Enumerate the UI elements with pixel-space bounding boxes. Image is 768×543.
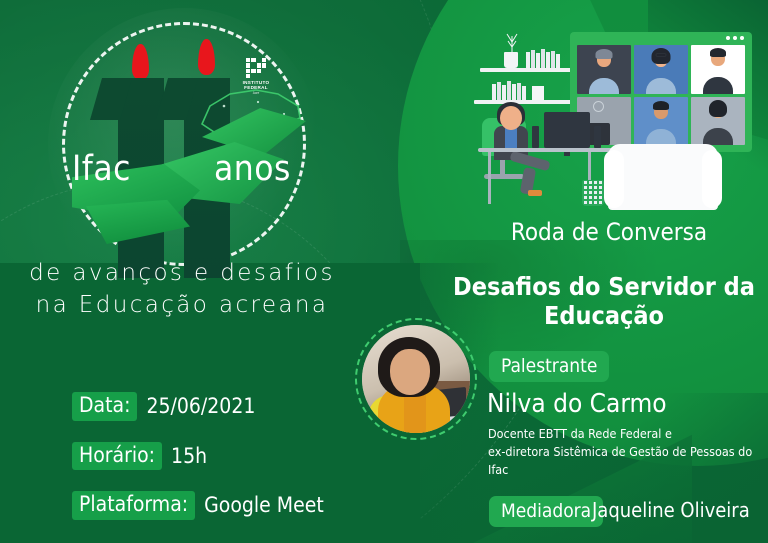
photo-face <box>390 349 430 395</box>
participant-tile[interactable] <box>634 97 688 146</box>
tagline-line-1: de avanços e desafios <box>0 258 364 290</box>
info-value-time: 15h <box>171 444 207 468</box>
participant-tile[interactable] <box>691 45 745 94</box>
shoe-icon <box>528 190 542 196</box>
book-icon <box>512 84 516 100</box>
participant-body <box>703 128 733 145</box>
participant-body <box>646 78 676 94</box>
book-icon <box>502 85 506 100</box>
plant-pot-icon <box>504 52 518 68</box>
participant-body <box>703 77 733 94</box>
seated-person-head <box>500 106 522 130</box>
glasses-icon <box>656 53 667 57</box>
participant-hair <box>709 100 727 117</box>
speaker-description-line-2: ex-diretora Sistêmica de Gestão de Pesso… <box>488 443 768 479</box>
moderator-name: Jaqueline Oliveira <box>592 498 750 522</box>
bookshelf-upper <box>480 68 572 72</box>
bookshelf-lower <box>474 100 574 104</box>
event-format-label: Roda de Conversa <box>450 218 768 246</box>
info-value-platform: Google Meet <box>204 493 324 517</box>
video-conference-illustration <box>470 22 760 212</box>
book-icon <box>522 86 526 100</box>
speaker-description-line-1: Docente EBTT da Rede Federal e <box>488 425 768 443</box>
participant-hair <box>653 101 669 110</box>
camera-icon <box>593 101 604 112</box>
if-logo-line3: Acre <box>234 91 278 95</box>
speaker-avatar <box>362 325 470 433</box>
participant-tile[interactable] <box>634 45 688 94</box>
participant-body <box>646 129 676 145</box>
if-logo-mark-icon <box>246 58 266 78</box>
desk-monitor <box>544 112 590 148</box>
participant-tile[interactable] <box>691 97 745 146</box>
participant-grid <box>577 45 745 145</box>
info-label-platform: Plataforma: <box>72 491 195 520</box>
book-icon <box>531 50 535 68</box>
book-icon <box>541 49 545 68</box>
event-poster: INSTITUTO FEDERAL Acre Ifac anos de avan… <box>0 0 768 543</box>
book-icon <box>546 52 550 68</box>
event-info-list: Data: 25/06/2021 Horário: 15h Plataforma… <box>72 392 324 541</box>
info-row-time: Horário: 15h <box>72 442 324 471</box>
moderator-role-chip: Mediadora <box>489 496 603 527</box>
instituto-federal-logo: INSTITUTO FEDERAL Acre <box>234 58 278 98</box>
book-icon <box>517 83 521 100</box>
book-icon <box>536 53 540 68</box>
info-row-date: Data: 25/06/2021 <box>72 392 324 421</box>
participant-tile[interactable] <box>577 45 631 94</box>
speaker-description: Docente EBTT da Rede Federal e ex-direto… <box>488 425 768 478</box>
tagline-line-2: na Educação acreana <box>0 290 364 322</box>
book-icon <box>497 82 501 100</box>
armchair <box>608 144 718 210</box>
info-label-date: Data: <box>72 392 137 421</box>
desk-speaker <box>594 126 601 148</box>
book-icon <box>556 54 560 68</box>
emblem-word-ifac: Ifac <box>72 152 131 187</box>
book-icon <box>551 51 555 68</box>
desk-leg <box>488 152 491 204</box>
emblem-word-anos: anos <box>214 152 291 187</box>
poster-tagline: de avanços e desafios na Educação acrean… <box>0 258 364 321</box>
participant-hair <box>596 49 613 59</box>
anniversary-emblem: INSTITUTO FEDERAL Acre Ifac anos <box>62 22 306 266</box>
speaker-name: Nilva do Carmo <box>487 389 667 419</box>
info-value-date: 25/06/2021 <box>146 394 255 418</box>
info-label-time: Horário: <box>72 442 162 471</box>
info-row-platform: Plataforma: Google Meet <box>72 491 324 520</box>
waste-bin <box>582 180 604 206</box>
event-title: Desafios do Servidor da Educação <box>440 272 768 330</box>
participant-hair <box>710 48 726 57</box>
plant-twig-icon <box>506 30 518 54</box>
window-dots-icon <box>726 36 744 40</box>
speaker-role-chip: Palestrante <box>489 351 609 382</box>
book-icon <box>492 84 496 100</box>
desk-speaker <box>532 126 539 148</box>
book-icon <box>507 81 511 100</box>
storage-box-icon <box>532 86 544 100</box>
book-icon <box>526 52 530 68</box>
participant-body <box>589 78 619 94</box>
speaker-photo <box>355 318 477 440</box>
